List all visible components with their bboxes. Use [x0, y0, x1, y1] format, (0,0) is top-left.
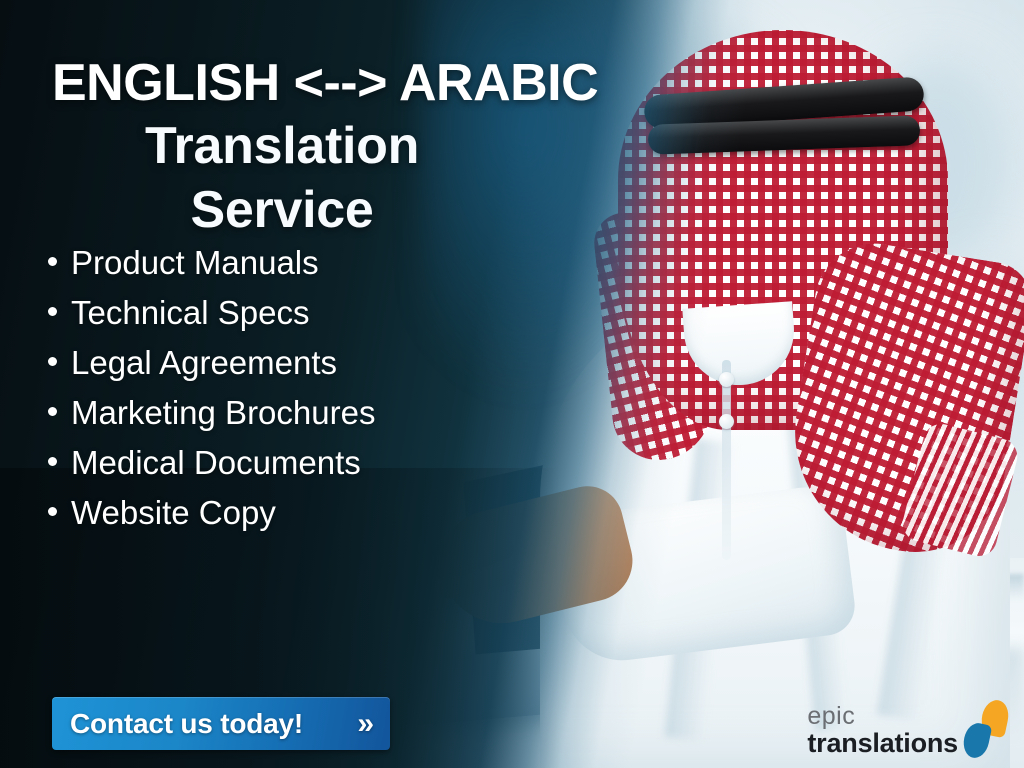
- double-chevron-right-icon: »: [357, 709, 370, 739]
- list-item: Marketing Brochures: [48, 388, 488, 438]
- headline: ENGLISH <--> ARABIC Translation Service: [52, 52, 572, 242]
- list-item: Legal Agreements: [48, 338, 488, 388]
- headline-line-1: ENGLISH <--> ARABIC: [52, 52, 572, 114]
- logo-wordmark: epic translations: [807, 704, 958, 758]
- marketing-banner: ENGLISH <--> ARABIC Translation Service …: [0, 0, 1024, 768]
- blue-comma-icon: [961, 721, 993, 760]
- services-list: Product Manuals Technical Specs Legal Ag…: [48, 238, 488, 538]
- service-label: Marketing Brochures: [71, 388, 375, 438]
- bullet-dot-icon: [48, 457, 57, 466]
- service-label: Medical Documents: [71, 438, 361, 488]
- list-item: Website Copy: [48, 488, 488, 538]
- list-item: Medical Documents: [48, 438, 488, 488]
- bullet-dot-icon: [48, 307, 57, 316]
- cta-label: Contact us today!: [70, 708, 303, 740]
- bullet-dot-icon: [48, 357, 57, 366]
- list-item: Product Manuals: [48, 238, 488, 288]
- headline-line-2: Translation Service: [52, 114, 512, 242]
- banner-content: ENGLISH <--> ARABIC Translation Service …: [0, 0, 1024, 768]
- bullet-dot-icon: [48, 407, 57, 416]
- bullet-dot-icon: [48, 257, 57, 266]
- list-item: Technical Specs: [48, 288, 488, 338]
- bullet-dot-icon: [48, 507, 57, 516]
- logo-quote-mark: [964, 700, 1008, 758]
- logo-primary-text: epic: [807, 704, 958, 729]
- logo-secondary-text: translations: [807, 729, 958, 758]
- epic-translations-logo[interactable]: epic translations: [807, 700, 1008, 758]
- service-label: Product Manuals: [71, 238, 319, 288]
- service-label: Website Copy: [71, 488, 276, 538]
- contact-us-button[interactable]: Contact us today! »: [52, 697, 390, 750]
- service-label: Technical Specs: [71, 288, 309, 338]
- service-label: Legal Agreements: [71, 338, 337, 388]
